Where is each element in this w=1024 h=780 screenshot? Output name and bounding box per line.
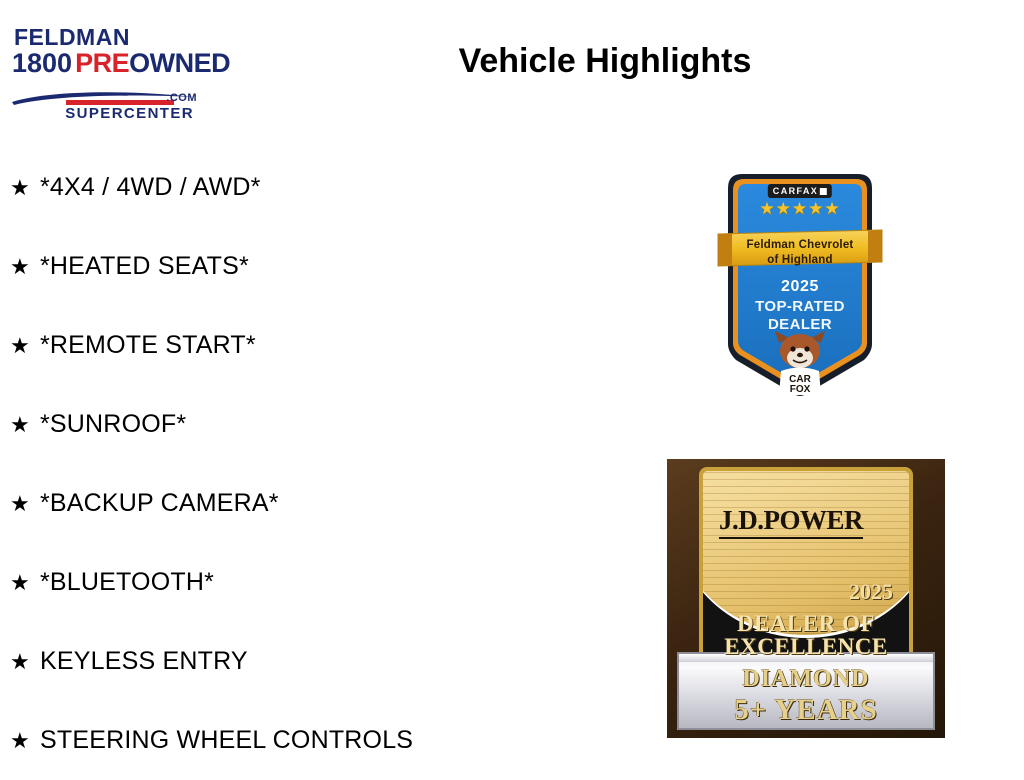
jdpower-award-title-line2: EXCELLENCE xyxy=(703,634,909,660)
star-bullet-icon: ★ xyxy=(10,651,40,673)
carfax-dealer-name-line2: of Highland xyxy=(714,253,886,268)
star-bullet-icon: ★ xyxy=(10,493,40,515)
jdpower-plaque: J.D.POWER 2025 DEALER OF EXCELLENCE xyxy=(699,467,913,665)
jdpower-tier-label: DIAMOND xyxy=(679,666,933,693)
carfax-dealer-name-line1: Feldman Chevrolet xyxy=(714,238,886,253)
svg-text:FOX: FOX xyxy=(790,384,811,395)
page-title-text: Vehicle Highlights xyxy=(459,42,752,81)
star-bullet-icon: ★ xyxy=(10,177,40,199)
list-item: ★ *BACKUP CAMERA* xyxy=(0,464,620,543)
carfax-award-year: 2025 xyxy=(714,278,886,296)
carfax-wordmark-block-icon xyxy=(820,188,827,195)
list-item-label: KEYLESS ENTRY xyxy=(40,647,248,676)
jdpower-brand-text: J.D.POWER xyxy=(719,505,863,539)
carfax-top-rated-dealer-badge: CARFAX ★★★★★ Feldman Chevrolet of Highla… xyxy=(714,168,886,400)
list-item: ★ KEYLESS ENTRY xyxy=(0,622,620,701)
list-item: ★ *HEATED SEATS* xyxy=(0,227,620,306)
carfax-award-title-line1: TOP-RATED xyxy=(714,298,886,316)
carfax-star-rating: ★★★★★ xyxy=(759,199,840,219)
star-bullet-icon: ★ xyxy=(10,414,40,436)
star-bullet-icon: ★ xyxy=(10,335,40,357)
carfax-wordmark-text: CARFAX xyxy=(773,186,818,196)
jdpower-award-year: 2025 xyxy=(849,579,893,605)
page-title: Vehicle Highlights xyxy=(0,42,1024,81)
carfax-award-title: TOP-RATED DEALER xyxy=(714,298,886,334)
carfax-wordmark: CARFAX xyxy=(768,184,832,198)
jdpower-dealer-of-excellence-award: J.D.POWER 2025 DEALER OF EXCELLENCE DIAM… xyxy=(667,459,945,738)
list-item-label: *HEATED SEATS* xyxy=(40,252,249,281)
jdpower-award-base: DIAMOND 5+ YEARS xyxy=(677,652,935,730)
list-item: ★ *4X4 / 4WD / AWD* xyxy=(0,148,620,227)
list-item-label: *BACKUP CAMERA* xyxy=(40,489,279,518)
jdpower-duration-label: 5+ YEARS xyxy=(679,694,933,727)
star-bullet-icon: ★ xyxy=(10,572,40,594)
list-item: ★ *BLUETOOTH* xyxy=(0,543,620,622)
list-item: ★ STEERING WHEEL CONTROLS xyxy=(0,701,620,780)
carfox-mascot-icon: CAR FOX xyxy=(769,331,831,395)
star-bullet-icon: ★ xyxy=(10,256,40,278)
list-item-label: *4X4 / 4WD / AWD* xyxy=(40,173,261,202)
logo-supercenter-text: SUPERCENTER xyxy=(65,105,194,122)
vehicle-highlights-list: ★ *4X4 / 4WD / AWD* ★ *HEATED SEATS* ★ *… xyxy=(0,148,620,780)
list-item-label: *REMOTE START* xyxy=(40,331,256,360)
list-item-label: STEERING WHEEL CONTROLS xyxy=(40,726,413,755)
list-item-label: *BLUETOOTH* xyxy=(40,568,214,597)
list-item-label: *SUNROOF* xyxy=(40,410,186,439)
list-item: ★ *SUNROOF* xyxy=(0,385,620,464)
carfax-dealer-name: Feldman Chevrolet of Highland xyxy=(714,238,886,268)
list-item: ★ *REMOTE START* xyxy=(0,306,620,385)
carfax-badge-text-layer: CARFAX ★★★★★ Feldman Chevrolet of Highla… xyxy=(714,168,886,400)
star-bullet-icon: ★ xyxy=(10,730,40,752)
